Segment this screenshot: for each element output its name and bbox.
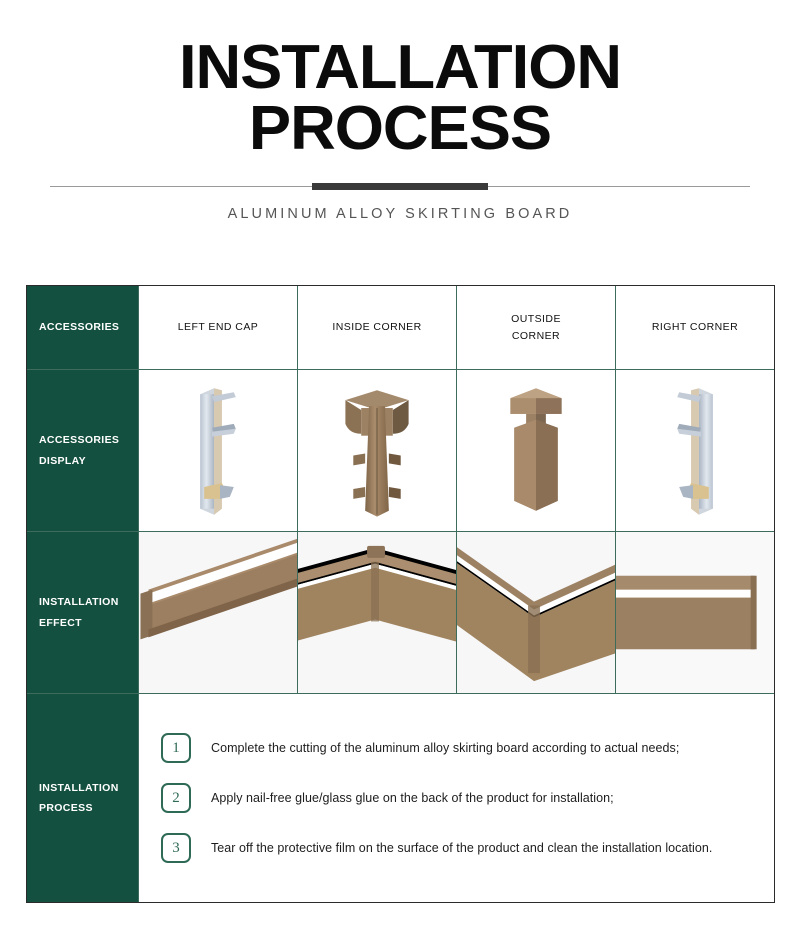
row-label-text-line2: DISPLAY bbox=[39, 451, 138, 471]
table-row: INSTALLATION EFFECT bbox=[27, 531, 774, 693]
column-header-text: LEFT END CAP bbox=[178, 319, 258, 335]
product-cell-left-end-cap bbox=[138, 370, 297, 531]
outside-corner-effect-icon bbox=[457, 532, 615, 693]
title-line-2: PROCESS bbox=[0, 99, 800, 160]
row-label-accessories-display: ACCESSORIES DISPLAY bbox=[27, 370, 138, 531]
right-corner-effect-icon bbox=[616, 532, 774, 693]
column-header-text: RIGHT CORNER bbox=[652, 319, 738, 335]
product-cell-right-corner bbox=[615, 370, 774, 531]
title-line-1: INSTALLATION bbox=[179, 33, 621, 102]
row-label-text-line1: INSTALLATION bbox=[39, 778, 138, 798]
page-header: INSTALLATION PROCESS ALUMINUM ALLOY SKIR… bbox=[0, 0, 800, 222]
row-label-text-line2: EFFECT bbox=[39, 613, 138, 633]
step-number-badge: 3 bbox=[161, 833, 191, 863]
right-corner-icon bbox=[616, 370, 774, 531]
title-divider bbox=[50, 182, 750, 192]
row-label-text: ACCESSORIES bbox=[39, 317, 138, 337]
list-item: 1 Complete the cutting of the aluminum a… bbox=[161, 733, 756, 763]
step-text: Tear off the protective film on the surf… bbox=[211, 841, 712, 855]
step-number-badge: 2 bbox=[161, 783, 191, 813]
list-item: 2 Apply nail-free glue/glass glue on the… bbox=[161, 783, 756, 813]
step-text: Complete the cutting of the aluminum all… bbox=[211, 741, 679, 755]
effect-cell-outside-corner bbox=[456, 532, 615, 693]
effect-cell-left-end-cap bbox=[138, 532, 297, 693]
table-row: ACCESSORIES LEFT END CAP INSIDE CORNER O… bbox=[27, 286, 774, 369]
installation-process-infographic: INSTALLATION PROCESS ALUMINUM ALLOY SKIR… bbox=[0, 0, 800, 930]
column-header-outside-corner: OUTSIDE CORNER bbox=[456, 286, 615, 369]
left-end-cap-icon bbox=[139, 370, 297, 531]
row-label-installation-effect: INSTALLATION EFFECT bbox=[27, 532, 138, 693]
inside-corner-effect-icon bbox=[298, 532, 456, 693]
row-label-installation-process: INSTALLATION PROCESS bbox=[27, 694, 138, 902]
column-header-text-line2: CORNER bbox=[512, 330, 560, 342]
divider-accent-bar bbox=[312, 183, 488, 190]
effect-cell-right-corner bbox=[615, 532, 774, 693]
column-header-inside-corner: INSIDE CORNER bbox=[297, 286, 456, 369]
step-number-badge: 1 bbox=[161, 733, 191, 763]
column-header-text: INSIDE CORNER bbox=[332, 319, 421, 335]
column-header-left-end-cap: LEFT END CAP bbox=[138, 286, 297, 369]
installation-steps-list: 1 Complete the cutting of the aluminum a… bbox=[138, 694, 774, 902]
list-item: 3 Tear off the protective film on the su… bbox=[161, 833, 756, 863]
row-label-accessories: ACCESSORIES bbox=[27, 286, 138, 369]
straight-skirting-effect-icon bbox=[139, 532, 297, 693]
inside-corner-icon bbox=[298, 370, 456, 531]
row-label-text-line1: ACCESSORIES bbox=[39, 430, 138, 450]
effect-cell-inside-corner bbox=[297, 532, 456, 693]
product-cell-outside-corner bbox=[456, 370, 615, 531]
page-subtitle: ALUMINUM ALLOY SKIRTING BOARD bbox=[0, 206, 800, 222]
accessories-table: ACCESSORIES LEFT END CAP INSIDE CORNER O… bbox=[26, 285, 775, 903]
outside-corner-icon bbox=[457, 370, 615, 531]
table-row: INSTALLATION PROCESS 1 Complete the cutt… bbox=[27, 693, 774, 902]
page-title: INSTALLATION PROCESS bbox=[0, 38, 800, 160]
product-cell-inside-corner bbox=[297, 370, 456, 531]
table-row: ACCESSORIES DISPLAY bbox=[27, 369, 774, 531]
column-header-right-corner: RIGHT CORNER bbox=[615, 286, 774, 369]
step-text: Apply nail-free glue/glass glue on the b… bbox=[211, 791, 614, 805]
row-label-text-line1: INSTALLATION bbox=[39, 592, 138, 612]
column-header-text: OUTSIDE bbox=[511, 313, 561, 325]
row-label-text-line2: PROCESS bbox=[39, 798, 138, 818]
